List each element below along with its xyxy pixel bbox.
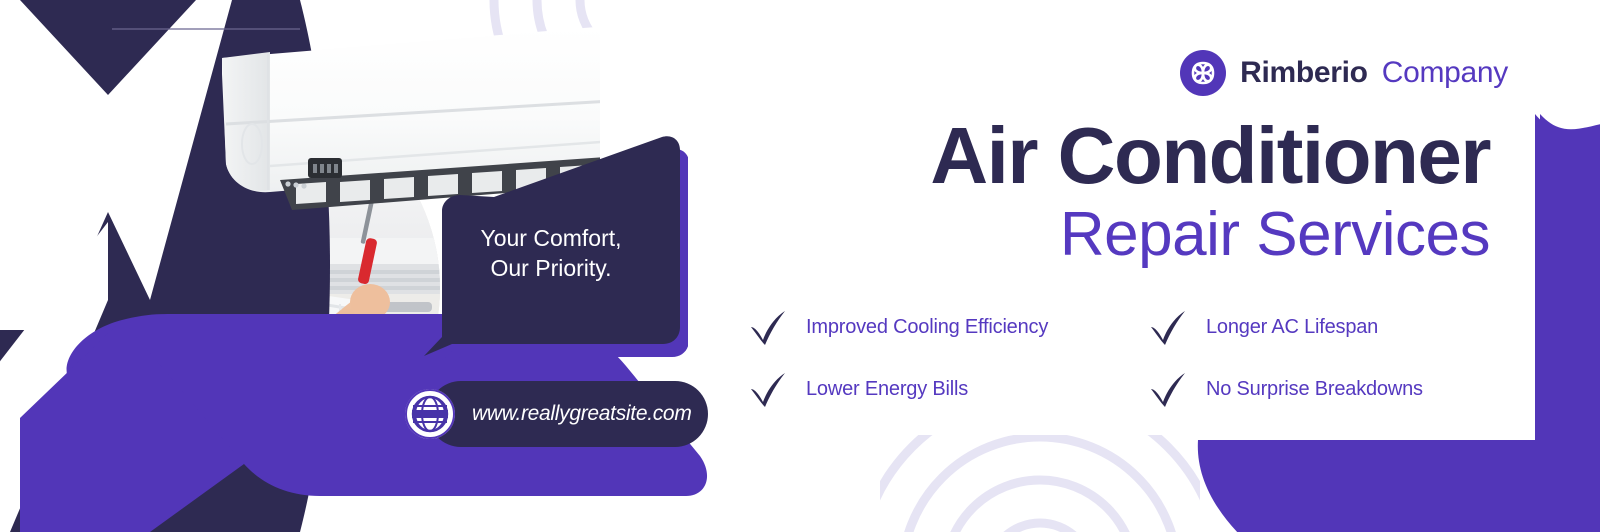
page-title: Air Conditioner bbox=[700, 118, 1490, 194]
feature-label: No Surprise Breakdowns bbox=[1206, 378, 1423, 401]
page-subtitle: Repair Services bbox=[700, 200, 1490, 269]
feature-item-improved-cooling-efficiency: Improved Cooling Efficiency bbox=[748, 296, 1148, 358]
feature-list: Improved Cooling Efficiency Longer AC Li… bbox=[748, 296, 1508, 420]
banner-canvas: Rimberio Company Air Conditioner Repair … bbox=[0, 0, 1600, 532]
check-icon bbox=[1148, 369, 1188, 409]
tagline-speech-bubble: Your Comfort, Our Priority. bbox=[418, 135, 688, 360]
brand-logo-lockup[interactable]: Rimberio Company bbox=[1180, 50, 1508, 96]
check-icon bbox=[748, 369, 788, 409]
flower-circle-logo-icon bbox=[1180, 50, 1226, 96]
feature-label: Improved Cooling Efficiency bbox=[806, 316, 1048, 339]
feature-item-longer-ac-lifespan: Longer AC Lifespan bbox=[1148, 296, 1508, 358]
globe-icon bbox=[404, 388, 456, 440]
feature-label: Longer AC Lifespan bbox=[1206, 316, 1378, 339]
website-badge[interactable]: www.reallygreatsite.com bbox=[404, 381, 692, 447]
tagline-text: Your Comfort, Our Priority. bbox=[440, 223, 662, 284]
tagline-line-1: Your Comfort, bbox=[440, 223, 662, 253]
brand-suffix: Company bbox=[1382, 56, 1508, 90]
check-icon bbox=[1148, 307, 1188, 347]
brand-name: Rimberio bbox=[1240, 56, 1368, 90]
headline-group: Air Conditioner Repair Services bbox=[700, 118, 1490, 269]
tagline-line-2: Our Priority. bbox=[440, 253, 662, 283]
feature-label: Lower Energy Bills bbox=[806, 378, 968, 401]
feature-item-lower-energy-bills: Lower Energy Bills bbox=[748, 358, 1148, 420]
arc-rings-bottom-decoration bbox=[880, 425, 1200, 532]
feature-item-no-surprise-breakdowns: No Surprise Breakdowns bbox=[1148, 358, 1508, 420]
website-url: www.reallygreatsite.com bbox=[472, 402, 692, 426]
right-purple-top-wing bbox=[1530, 108, 1600, 448]
check-icon bbox=[748, 307, 788, 347]
